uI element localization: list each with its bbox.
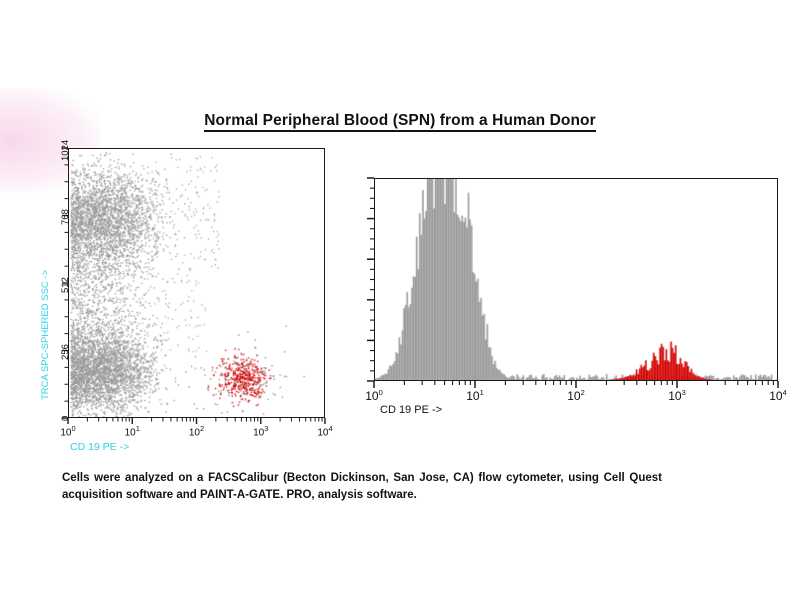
histogram-x-axis-label: CD 19 PE ->: [380, 404, 442, 416]
histogram-tick-marks: [366, 174, 800, 404]
flow-cytometry-figure: Normal Peripheral Blood (SPN) from a Hum…: [0, 0, 800, 600]
figure-title: Normal Peripheral Blood (SPN) from a Hum…: [0, 112, 800, 130]
scatter-x-axis-label: CD 19 PE ->: [70, 441, 129, 453]
figure-caption: Cells were analyzed on a FACSCalibur (Be…: [62, 470, 662, 504]
figure-title-text: Normal Peripheral Blood (SPN) from a Hum…: [204, 112, 595, 132]
scatter-tick-marks: [60, 143, 360, 443]
scatter-y-axis-label: TRCA SPC-SPHERED SSC ->: [40, 270, 51, 400]
